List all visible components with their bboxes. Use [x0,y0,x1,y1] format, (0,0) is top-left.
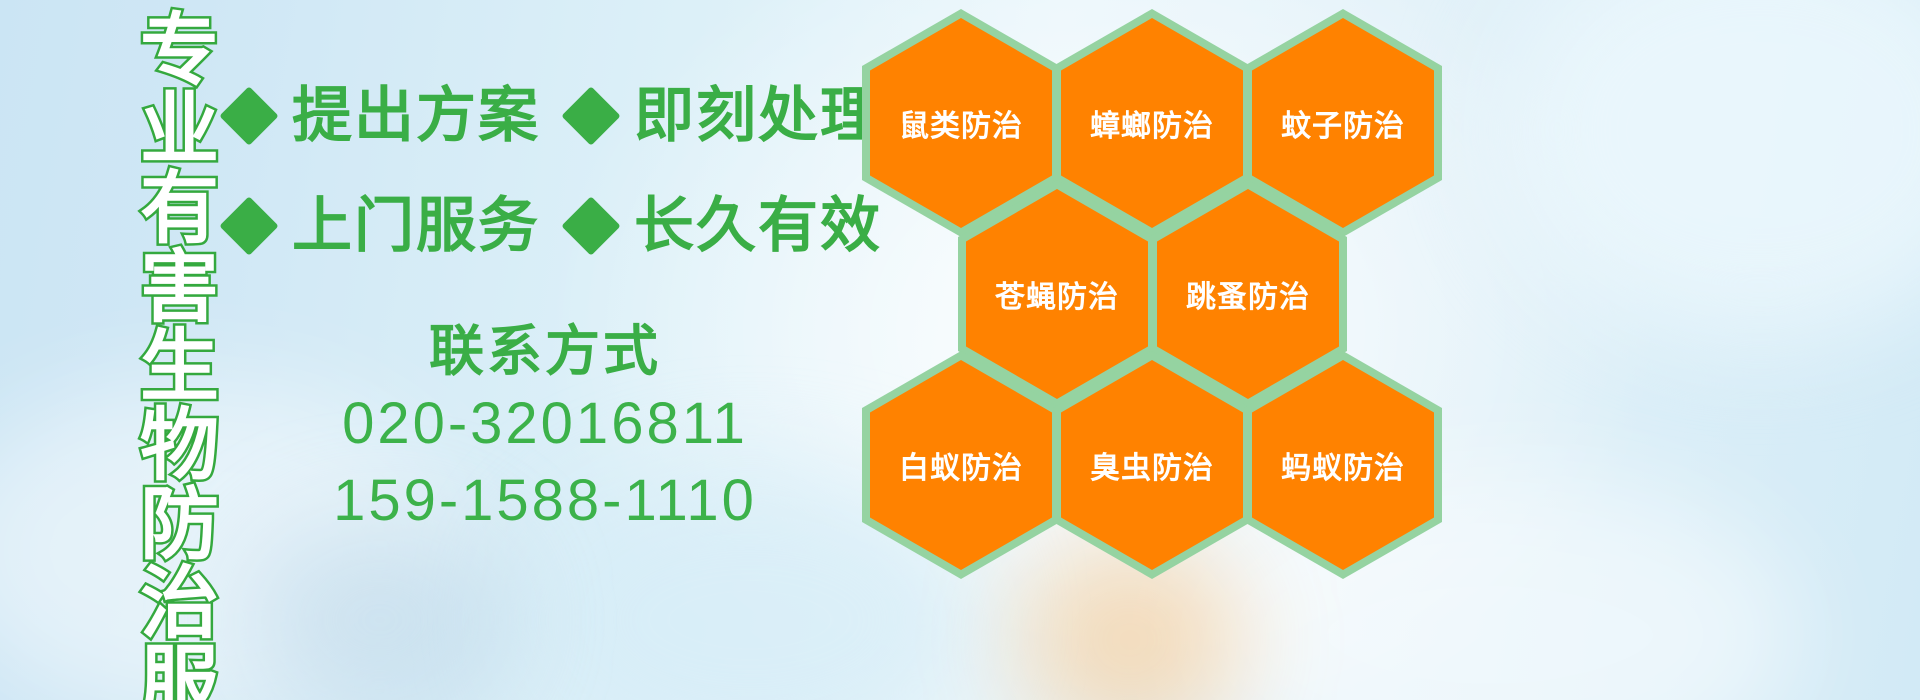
feature-label: 长久有效 [634,196,882,256]
diamond-bullet-icon [561,196,620,255]
hex-label: 臭虫防治 [1090,443,1214,487]
diamond-bullet-icon [219,196,278,255]
hex-label: 蚊子防治 [1281,101,1405,145]
feature-item-long-lasting-effect: 长久有效 [570,196,882,256]
feature-item-propose-plan: 提出方案 [228,86,540,146]
phone-landline[interactable]: 020-32016811 [240,385,850,462]
hex-label: 鼠类防治 [899,101,1023,145]
background-blur-shape [1500,0,1920,340]
feature-item-door-to-door-service: 上门服务 [228,196,540,256]
banner-root: 专业有害生物防治服务 提出方案 即刻处理 上门服务 长久有效 联系方式 020-… [0,0,1920,700]
feature-label: 即刻处理 [634,86,882,146]
feature-row-2: 上门服务 长久有效 [228,196,882,256]
contact-block: 联系方式 020-32016811 159-1588-1110 [240,318,850,539]
hex-label: 蚂蚁防治 [1281,443,1405,487]
feature-row-1: 提出方案 即刻处理 [228,86,882,146]
hex-label: 跳蚤防治 [1186,272,1310,316]
hex-label: 蟑螂防治 [1090,101,1214,145]
feature-label: 上门服务 [292,196,540,256]
diamond-bullet-icon [219,86,278,145]
contact-heading: 联系方式 [240,318,850,385]
hex-label: 苍蝇防治 [995,272,1119,316]
feature-label: 提出方案 [292,86,540,146]
diamond-bullet-icon [561,86,620,145]
feature-item-immediate-handling: 即刻处理 [570,86,882,146]
background-blur-shape [250,520,510,700]
hex-label: 白蚁防治 [899,443,1023,487]
phone-mobile[interactable]: 159-1588-1110 [240,462,850,539]
vertical-headline: 专业有害生物防治服务 [98,8,210,698]
service-hex-grid: 鼠类防治 蟑螂防治 蚊子防治 苍蝇防治 跳蚤防治 白蚁防治 臭虫防治 蚂蚁 [862,0,1442,700]
